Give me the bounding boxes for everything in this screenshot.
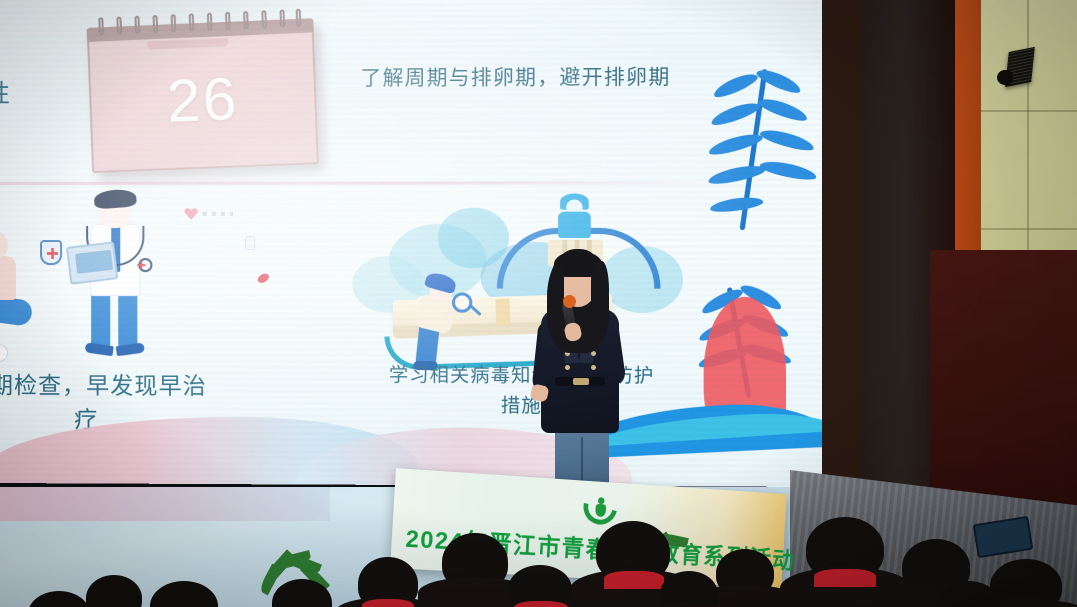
person-with-magnifier-icon [411,274,472,367]
audience-head [86,575,142,607]
audience-head [660,571,718,607]
projection-screen: 26 性 了解周期与排卵期，避开排卵期 [0,0,822,487]
slide-headline-right: 了解周期与排卵期，避开排卵期 [361,62,688,94]
calendar-day-number: 26 [88,61,317,140]
photo-scene: 26 性 了解周期与排卵期，避开排卵期 [0,0,1077,607]
medical-shield-icon [40,240,62,265]
audience-head [28,591,90,607]
wall-speaker-icon [997,48,1047,98]
small-figure-icon [556,193,593,240]
red-dot-decoration [256,272,271,285]
slide-divider [0,181,728,185]
presenter [521,247,641,492]
doctor-with-clipboard-icon [66,192,177,363]
dots-decoration [203,212,233,216]
pill-icon [245,236,255,250]
audience-head [150,581,218,607]
calendar-icon: 26 [86,8,319,173]
audience-row [0,505,1077,607]
heart-icon [185,208,198,220]
blue-fern-leaf-icon [704,48,817,241]
slide-edge-character: 性 [0,74,11,110]
bookmark-icon [495,298,510,325]
